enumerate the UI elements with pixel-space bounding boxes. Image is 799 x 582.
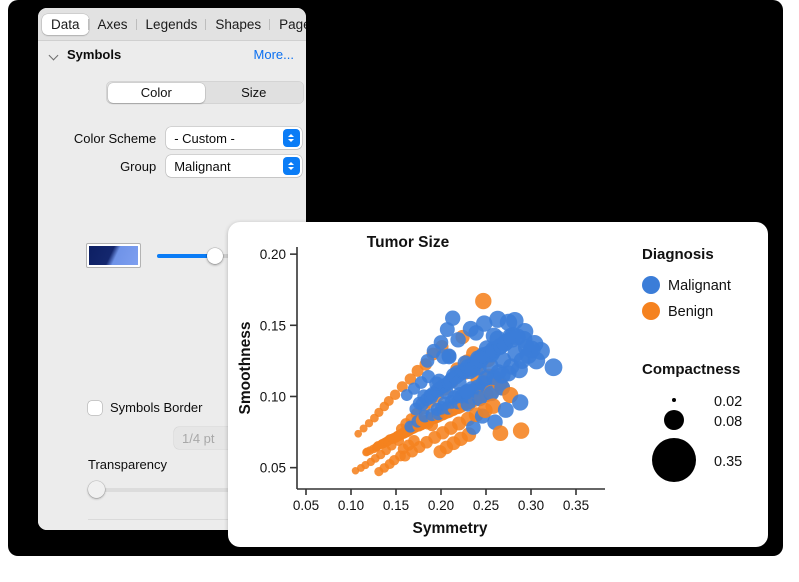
x-tick-label: 0.35 <box>563 498 589 513</box>
size-legend-label: 0.02 <box>714 394 742 410</box>
symbols-section-title: Symbols <box>67 47 121 62</box>
size-legend-swatch <box>672 398 676 402</box>
group-value: Malignant <box>174 159 230 174</box>
x-tick-label: 0.30 <box>518 498 544 513</box>
scatter-plot: 0.050.100.150.200.250.300.350.050.100.15… <box>228 222 768 547</box>
scatter-point <box>498 402 514 418</box>
scatter-points <box>352 293 563 476</box>
scatter-point <box>459 384 474 399</box>
inspector-tab-bar: Data Axes Legends Shapes Page <box>38 8 306 41</box>
opacity-slider-knob[interactable] <box>207 248 223 264</box>
segment-color-label: Color <box>141 85 172 100</box>
x-tick-label: 0.15 <box>383 498 409 513</box>
scatter-point <box>532 342 550 360</box>
color-size-segmented-control[interactable]: Color Size <box>106 81 304 104</box>
segment-size[interactable]: Size <box>205 83 303 103</box>
group-label: Group <box>50 159 156 174</box>
color-scheme-dropdown[interactable]: - Custom - <box>166 127 302 149</box>
transparency-label: Transparency <box>88 457 167 472</box>
color-scheme-label: Color Scheme <box>50 131 156 146</box>
x-tick-label: 0.20 <box>428 498 454 513</box>
color-scheme-row: Color Scheme - Custom - <box>50 127 302 149</box>
symbols-border-row[interactable]: Symbols Border <box>88 400 202 415</box>
transparency-slider-knob[interactable] <box>88 481 105 498</box>
gradient-swatch[interactable] <box>86 243 141 268</box>
tab-data-label: Data <box>51 17 80 32</box>
scatter-point <box>545 358 563 376</box>
scatter-point <box>512 394 528 410</box>
tab-axes-label: Axes <box>98 17 128 32</box>
scatter-point <box>445 311 460 326</box>
symbols-border-label: Symbols Border <box>110 400 202 415</box>
segment-size-label: Size <box>241 85 266 100</box>
color-legend-label: Benign <box>668 304 713 320</box>
color-scheme-value: - Custom - <box>174 131 235 146</box>
tab-data[interactable]: Data <box>42 14 89 35</box>
color-legend-label: Malignant <box>668 278 731 294</box>
scatter-point <box>390 390 400 400</box>
scatter-point <box>506 312 524 330</box>
tab-page-label: Page <box>279 17 306 32</box>
chevron-down-icon[interactable] <box>48 48 61 61</box>
tab-legends[interactable]: Legends <box>137 14 207 35</box>
y-tick-label: 0.05 <box>260 461 286 476</box>
transparency-row: Transparency <box>88 457 167 472</box>
segment-color[interactable]: Color <box>108 83 206 103</box>
border-width-value: 1/4 pt <box>182 431 215 446</box>
y-tick-label: 0.10 <box>260 389 286 404</box>
scatter-point <box>494 367 511 384</box>
tab-axes[interactable]: Axes <box>89 14 137 35</box>
symbols-border-checkbox[interactable] <box>88 401 102 415</box>
y-tick-label: 0.15 <box>260 318 286 333</box>
size-legend-label: 0.35 <box>714 454 742 470</box>
tab-shapes[interactable]: Shapes <box>206 14 270 35</box>
scatter-point <box>513 422 529 438</box>
x-axis-label: Symmetry <box>413 520 488 537</box>
gradient-swatch-fill <box>89 246 138 265</box>
x-tick-label: 0.05 <box>293 498 319 513</box>
scatter-point <box>475 293 491 309</box>
updown-chevron-icon[interactable] <box>283 129 300 147</box>
x-tick-label: 0.25 <box>473 498 499 513</box>
updown-chevron-icon[interactable] <box>283 157 300 175</box>
size-legend-label: 0.08 <box>714 414 742 430</box>
scatter-point <box>493 425 509 441</box>
chart-card: Tumor Size 0.050.100.150.200.250.300.350… <box>228 222 768 547</box>
tab-legends-label: Legends <box>146 17 198 32</box>
scatter-point <box>511 361 528 378</box>
size-legend-title: Compactness <box>642 361 740 378</box>
scatter-point <box>436 349 451 364</box>
tab-shapes-label: Shapes <box>215 17 261 32</box>
color-legend-swatch <box>642 276 660 294</box>
size-legend-swatch <box>664 410 684 430</box>
x-tick-label: 0.10 <box>338 498 364 513</box>
screenshot-root: Data Axes Legends Shapes Page Symbols Mo… <box>0 0 799 582</box>
group-dropdown[interactable]: Malignant <box>166 155 302 177</box>
y-tick-label: 0.20 <box>260 247 286 262</box>
tab-page[interactable]: Page <box>270 14 306 35</box>
symbols-section-header[interactable]: Symbols More... <box>38 41 306 67</box>
size-legend-swatch <box>652 438 696 482</box>
group-row: Group Malignant <box>50 155 302 177</box>
scatter-point <box>486 328 503 345</box>
scatter-point <box>434 335 449 350</box>
scatter-point <box>450 332 465 347</box>
y-axis-label: Smoothness <box>237 321 254 414</box>
more-link[interactable]: More... <box>254 47 294 62</box>
color-legend-swatch <box>642 302 660 320</box>
color-legend-title: Diagnosis <box>642 246 714 263</box>
